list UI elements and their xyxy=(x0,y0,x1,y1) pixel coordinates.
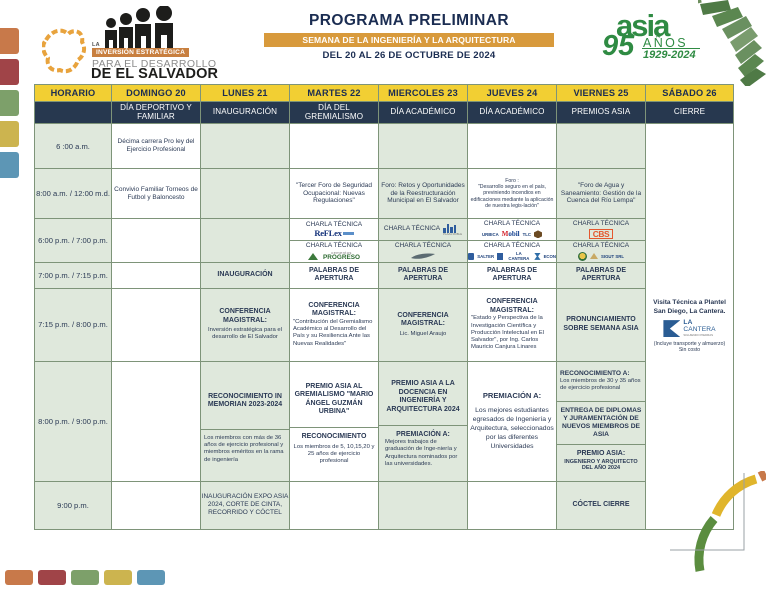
prem-viernes-1-body: Los miembros de 30 y 35 años de ejercici… xyxy=(560,378,642,392)
prem-jueves-title: PREMIACIÓN A: xyxy=(468,391,556,400)
cell-charla2-viernes: CHARLA TÉCNICA SIGUT SRL xyxy=(557,240,646,262)
cell-7pm-martes: PALABRAS DE APERTURA xyxy=(290,262,379,288)
sigut-name: SIGUT SRL xyxy=(601,254,624,259)
inversion-estrategica-logo: LA INVERSIÓN ESTRATÉGICA PARA EL DESARRO… xyxy=(40,6,220,80)
cell-charla2-miercoles: CHARLA TÉCNICA xyxy=(379,240,468,262)
sigut-cone-icon xyxy=(590,253,598,259)
salter-logo: SALTER xyxy=(477,254,494,259)
color-tab-b4 xyxy=(104,570,132,585)
progreso-triangle-icon xyxy=(308,253,318,260)
cell-charla1-miercoles: CHARLA TÉCNICA PLAZA ROBLE xyxy=(379,219,468,241)
cell-8am-jueves-line2: "Desarrollo seguro en el país, previnien… xyxy=(468,184,556,209)
cell-9pm-miercoles xyxy=(379,481,468,529)
page-title: PROGRAMA PRELIMINAR xyxy=(264,12,554,30)
header: LA INVERSIÓN ESTRATÉGICA PARA EL DESARRO… xyxy=(34,4,734,84)
cell-6pm-domingo xyxy=(112,219,201,263)
bottom-color-tabs xyxy=(5,570,165,585)
cell-7pm-viernes: PALABRAS DE APERTURA xyxy=(557,262,646,288)
cell-7pm-miercoles: PALABRAS DE APERTURA xyxy=(379,262,468,288)
charla-label-viernes-2: CHARLA TÉCNICA xyxy=(557,242,645,250)
color-tab-1 xyxy=(0,28,19,54)
day-header-row: HORARIO DOMINGO 20 LUNES 21 MARTES 22 MI… xyxy=(35,85,734,102)
cell-715pm-martes: CONFERENCIA MAGISTRAL: "Contribución del… xyxy=(290,288,379,361)
cell-715pm-jueves: CONFERENCIA MAGISTRAL: "Estado y Perspec… xyxy=(468,288,557,361)
cell-715pm-domingo xyxy=(112,288,201,361)
cell-7pm-jueves: PALABRAS DE APERTURA xyxy=(468,262,557,288)
jueves-sponsor-logos-1: URBICA Mobil TLC xyxy=(468,229,556,240)
color-tab-5 xyxy=(0,152,19,178)
theme-sabado: CIERRE xyxy=(646,102,734,124)
col-header-sabado: SÁBADO 26 xyxy=(646,85,734,102)
cell-8pm-martes: PREMIO ASIA AL GREMIALISMO "MARIO ÁNGEL … xyxy=(290,361,379,481)
charla-label-miercoles-2: CHARLA TÉCNICA xyxy=(379,242,467,250)
cell-6am-jueves xyxy=(468,124,557,169)
theme-horario xyxy=(35,102,112,124)
progreso-name: PROGRESO xyxy=(323,254,360,261)
theme-lunes: INAUGURACIÓN xyxy=(201,102,290,124)
row-6pm-charla-1: 6:00 p.m. / 7:00 p.m. CHARLA TÉCNICA ReF… xyxy=(35,219,734,241)
col-header-jueves: JUEVES 24 xyxy=(468,85,557,102)
cell-9pm-domingo xyxy=(112,481,201,529)
cell-715pm-lunes: CONFERENCIA MAGISTRAL: Inversión estraté… xyxy=(201,288,290,361)
prem-martes-bottom-title: RECONOCIMIENTO xyxy=(293,433,375,442)
cell-8pm-viernes: RECONOCIMIENTO A: Los miembros de 30 y 3… xyxy=(557,361,646,481)
charla-label-miercoles-1: CHARLA TÉCNICA xyxy=(384,225,440,233)
lacantera-logo-small: LA CANTERA xyxy=(506,251,531,261)
swoosh-icon xyxy=(410,252,436,260)
color-tab-2 xyxy=(0,59,19,85)
logo-inversion-text: INVERSIÓN ESTRATÉGICA xyxy=(92,48,189,57)
prem-viernes-2: ENTREGA DE DIPLOMAS Y JURAMENTACIÓN DE N… xyxy=(560,407,642,440)
cell-charla1-jueves: CHARLA TÉCNICA URBICA Mobil TLC xyxy=(468,219,557,241)
time-9pm: 9:00 p.m. xyxy=(35,481,112,529)
left-color-tabs xyxy=(0,28,19,178)
conf-lunes-body: Inversión estratégica para el desarrollo… xyxy=(201,327,289,341)
time-715pm: 7:15 p.m. / 8:00 p.m. xyxy=(35,288,112,361)
cell-6am-lunes xyxy=(201,124,290,169)
cell-9pm-jueves xyxy=(468,481,557,529)
la-cantera-logo: LA CANTERA SIGUIENDO PIEDRAS xyxy=(650,320,729,337)
mobil-logo: Mobil xyxy=(502,231,520,238)
prem-miercoles-bottom-body: Mejores trabajos de graduación de Inge-n… xyxy=(382,439,464,468)
cell-6pm-lunes xyxy=(201,219,290,263)
plaza-roble-caption: PLAZA ROBLE xyxy=(443,233,462,236)
conf-jueves-title: CONFERENCIA MAGISTRAL: xyxy=(468,298,556,315)
cell-6am-martes xyxy=(290,124,379,169)
color-tab-3 xyxy=(0,90,19,116)
conf-lunes-title: CONFERENCIA MAGISTRAL: xyxy=(201,308,289,325)
page-dates: DEL 20 AL 26 DE OCTUBRE DE 2024 xyxy=(264,50,554,61)
conf-martes-title: CONFERENCIA MAGISTRAL: xyxy=(290,302,378,319)
row-8pm: 8:00 p.m. / 9:00 p.m. RECONOCIMIENTO IN … xyxy=(35,361,734,481)
charla-label-martes-2: CHARLA TÉCNICA xyxy=(290,242,378,250)
cell-8am-domingo: Convivio Familiar Torneos de Futbol y Ba… xyxy=(112,169,201,219)
cell-8pm-miercoles: PREMIO ASIA A LA DOCENCIA EN INGENIERÍA … xyxy=(379,361,468,481)
cell-715pm-miercoles: CONFERENCIA MAGISTRAL: Lic. Miguel Arauj… xyxy=(379,288,468,361)
prem-martes-top: PREMIO ASIA AL GREMIALISMO "MARIO ÁNGEL … xyxy=(293,383,375,417)
row-7pm: 7:00 p.m. / 7:15 p.m. INAUGURACIÓN PALAB… xyxy=(35,262,734,288)
cell-6am-domingo: Décima carrera Pro ley del Ejercicio Pro… xyxy=(112,124,201,169)
logo-de-el-salvador-text: DE EL SALVADOR xyxy=(91,66,218,82)
cell-7pm-lunes: INAUGURACIÓN xyxy=(201,262,290,288)
asia-95-number: 95 xyxy=(602,32,634,61)
la-cantera-mark-small-icon xyxy=(497,253,503,260)
cell-8am-jueves: Foro : "Desarrollo seguro en el país, pr… xyxy=(468,169,557,219)
col-header-miercoles: MIERCOLES 23 xyxy=(379,85,468,102)
urbica-logo: URBICA xyxy=(482,232,499,237)
conf-miercoles-title: CONFERENCIA MAGISTRAL: xyxy=(379,312,467,329)
theme-martes: DÍA DEL GREMIALISMO xyxy=(290,102,379,124)
cell-8am-miercoles: Foro: Retos y Oportunidades de la Reestr… xyxy=(379,169,468,219)
cell-8pm-jueves: PREMIACIÓN A: Los mejores estudiantes eg… xyxy=(468,361,557,481)
time-6am: 6 :00 a.m. xyxy=(35,124,112,169)
cell-9pm-martes xyxy=(290,481,379,529)
hex-sponsor-logo xyxy=(534,230,542,238)
econ-logo: ECON xyxy=(544,254,556,259)
row-6am: 6 :00 a.m. Décima carrera Pro ley del Ej… xyxy=(35,124,734,169)
colored-arc-decoration xyxy=(670,471,766,575)
cell-8am-lunes xyxy=(201,169,290,219)
col-header-domingo: DOMINGO 20 xyxy=(112,85,201,102)
sigut-seal-icon xyxy=(578,252,587,261)
cell-charla2-martes: CHARLA TÉCNICA cementos PROGRESO xyxy=(290,240,379,262)
jueves-sponsor-logos-2: SALTER LA CANTERA ECON xyxy=(468,251,556,262)
prem-viernes-1-title: RECONOCIMIENTO A: xyxy=(560,370,642,378)
time-8am: 8:00 a.m. / 12:00 m.d. xyxy=(35,169,112,219)
title-block: PROGRAMA PRELIMINAR SEMANA DE LA INGENIE… xyxy=(264,12,554,61)
salter-mark-icon xyxy=(468,253,474,260)
prem-viernes-3-body: INGENIERO Y ARQUITECTO DEL AÑO 2024 xyxy=(560,459,642,472)
prem-viernes-3-title: PREMIO ASIA: xyxy=(560,450,642,459)
asia-years-text: 1929-2024 xyxy=(643,49,696,61)
program-schedule-table: HORARIO DOMINGO 20 LUNES 21 MARTES 22 MI… xyxy=(34,84,734,530)
row-8am: 8:00 a.m. / 12:00 m.d. Convivio Familiar… xyxy=(35,169,734,219)
conf-miercoles-body: Lic. Miguel Araujo xyxy=(379,331,467,338)
page-subtitle: SEMANA DE LA INGENIERÍA Y LA ARQUITECTUR… xyxy=(264,33,554,47)
cell-8pm-domingo xyxy=(112,361,201,481)
cell-8am-viernes: "Foro de Agua y Saneamiento: Gestión de … xyxy=(557,169,646,219)
charla-label-viernes-1: CHARLA TÉCNICA xyxy=(557,220,645,228)
cell-6am-miercoles xyxy=(379,124,468,169)
theme-miercoles: DÍA ACADÉMICO xyxy=(379,102,468,124)
prem-lunes-top: RECONOCIMIENTO IN MEMORIAN 2023-2024 xyxy=(204,393,286,410)
cell-9pm-viernes: CÓCTEL CIERRE xyxy=(557,481,646,529)
charla-label-jueves-2: CHARLA TÉCNICA xyxy=(468,242,556,250)
la-cantera-mark-icon xyxy=(663,320,680,337)
prem-miercoles-bottom-title: PREMIACIÓN A: xyxy=(382,431,464,440)
color-tab-b5 xyxy=(137,570,165,585)
cell-9pm-lunes: INAUGURACIÓN EXPO ASIA 2024, CORTE DE CI… xyxy=(201,481,290,529)
cell-sabado-merged: Visita Técnica a Plantel San Diego, La C… xyxy=(646,124,734,530)
col-header-viernes: VIERNES 25 xyxy=(557,85,646,102)
conf-martes-body: "Contribución del Gremialismo Académico … xyxy=(290,319,378,348)
cell-6am-viernes xyxy=(557,124,646,169)
theme-jueves: DÍA ACADÉMICO xyxy=(468,102,557,124)
col-header-horario: HORARIO xyxy=(35,85,112,102)
cbs-logo: CBS xyxy=(589,229,613,239)
sigut-srl-logo: SIGUT SRL xyxy=(557,251,645,262)
asia-95-logo: asia 95 AÑOS 1929-2024 xyxy=(594,10,704,72)
theme-viernes: PREMIOS ASIA xyxy=(557,102,646,124)
color-tab-b2 xyxy=(38,570,66,585)
tlc-logo: TLC xyxy=(523,232,531,237)
row-9pm: 9:00 p.m. INAUGURACIÓN EXPO ASIA 2024, C… xyxy=(35,481,734,529)
plaza-roble-logo: PLAZA ROBLE xyxy=(443,224,462,236)
cell-charla1-martes: CHARLA TÉCNICA ReFLex xyxy=(290,219,379,241)
charla-label-martes-1: CHARLA TÉCNICA xyxy=(290,221,378,229)
prem-martes-bottom-body: Los miembros de 5, 10,15,20 y 25 años de… xyxy=(293,444,375,466)
row-715pm: 7:15 p.m. / 8:00 p.m. CONFERENCIA MAGIST… xyxy=(35,288,734,361)
reflex-logo: ReFLex xyxy=(314,229,353,238)
conf-jueves-body: "Estado y Perspectiva de la Investigació… xyxy=(468,315,556,351)
la-cantera-sub: SIGUIENDO PIEDRAS xyxy=(683,334,715,337)
cell-715pm-viernes: PRONUNCIAMIENTO SOBRE SEMANA ASIA xyxy=(557,288,646,361)
color-tab-4 xyxy=(0,121,19,147)
color-tab-b3 xyxy=(71,570,99,585)
cementos-progreso-logo: cementos PROGRESO xyxy=(290,251,378,262)
cell-8am-martes: "Tercer Foro de Seguridad Ocupacional: N… xyxy=(290,169,379,219)
cell-8pm-lunes: RECONOCIMIENTO IN MEMORIAN 2023-2024 Los… xyxy=(201,361,290,481)
cell-7pm-domingo xyxy=(112,262,201,288)
el-salvador-map-icon xyxy=(42,22,90,78)
cell-charla1-viernes: CHARLA TÉCNICA CBS xyxy=(557,219,646,241)
charla1-miercoles-inner: CHARLA TÉCNICA PLAZA ROBLE xyxy=(379,224,467,235)
theme-header-row: DÍA DEPORTIVO Y FAMILIAR INAUGURACIÓN DÍ… xyxy=(35,102,734,124)
reflex-dash-icon xyxy=(343,232,354,235)
cell-charla2-jueves: CHARLA TÉCNICA SALTER LA CANTERA ECON xyxy=(468,240,557,262)
swoosh-logo xyxy=(379,251,467,262)
theme-domingo: DÍA DEPORTIVO Y FAMILIAR xyxy=(112,102,201,124)
color-tab-b1 xyxy=(5,570,33,585)
sabado-visit-title: Visita Técnica a Plantel San Diego, La C… xyxy=(650,299,729,316)
charla-label-jueves-1: CHARLA TÉCNICA xyxy=(468,220,556,228)
sabado-note-2: Sin costo xyxy=(650,347,729,353)
prem-jueves-body: Los mejores estudiantes egresados de Ing… xyxy=(468,406,556,452)
col-header-martes: MARTES 22 xyxy=(290,85,379,102)
prem-miercoles-top: PREMIO ASIA A LA DOCENCIA EN INGENIERÍA … xyxy=(382,380,464,414)
time-6pm: 6:00 p.m. / 7:00 p.m. xyxy=(35,219,112,263)
time-8pm: 8:00 p.m. / 9:00 p.m. xyxy=(35,361,112,481)
econ-mark-icon xyxy=(534,253,540,260)
prem-lunes-bottom: Los miembros con más de 36 años de ejerc… xyxy=(201,430,289,469)
col-header-lunes: LUNES 21 xyxy=(201,85,290,102)
time-7pm: 7:00 p.m. / 7:15 p.m. xyxy=(35,262,112,288)
people-icon xyxy=(102,6,180,52)
